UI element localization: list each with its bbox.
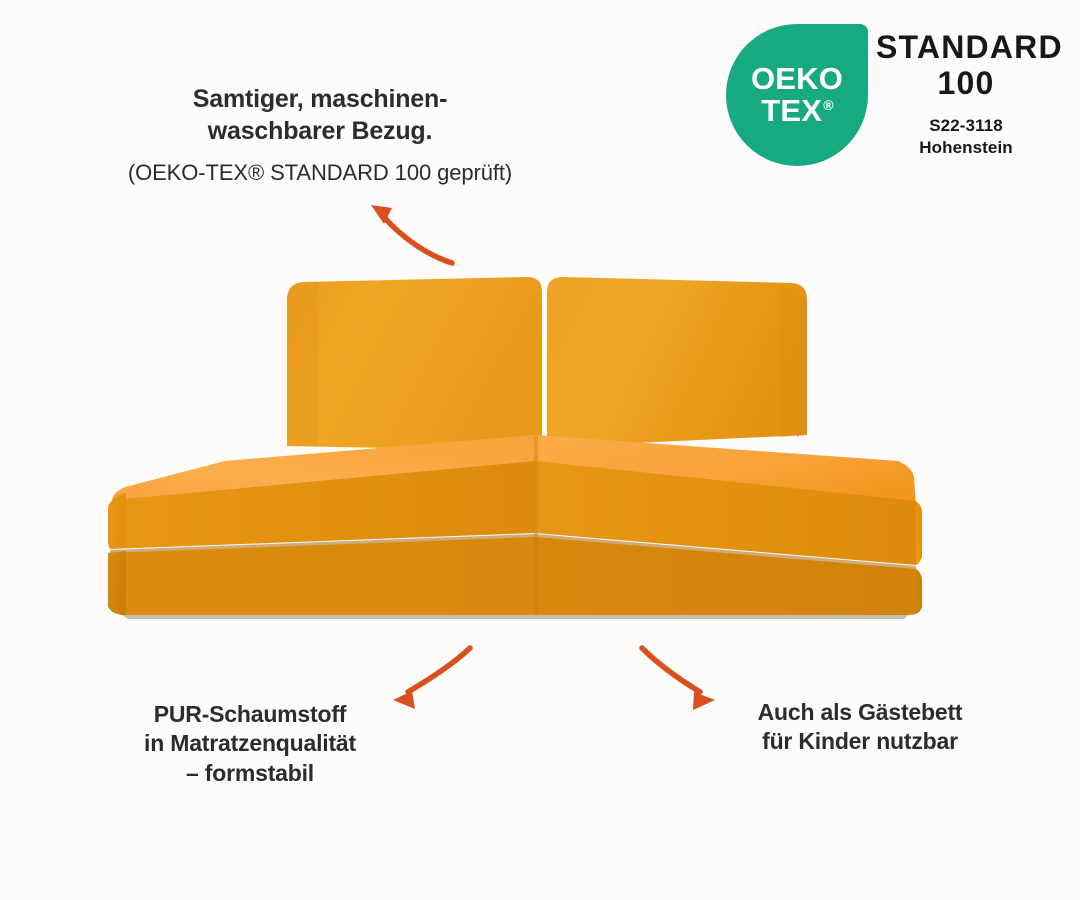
- certification-number-block: S22-3118 Hohenstein: [876, 115, 1056, 160]
- oeko-tex-certification: OEKO TEX ® STANDARD 100 S22-3118 Hohenst…: [726, 24, 1056, 174]
- certification-details: STANDARD 100 S22-3118 Hohenstein: [876, 30, 1056, 160]
- certification-standard-line1: STANDARD: [876, 30, 1056, 66]
- product-illustration: [80, 265, 1020, 635]
- callout-cover-headline-line1: Samtiger, maschinen-: [60, 83, 580, 115]
- certification-standard: STANDARD 100: [876, 30, 1056, 102]
- oeko-tex-logo: OEKO TEX ®: [726, 24, 868, 166]
- callout-guestbed-line2: für Kinder nutzbar: [690, 727, 1030, 756]
- callout-foam-line2: in Matratzenqualität: [50, 729, 450, 758]
- callout-cover-headline: Samtiger, maschinen- waschbarer Bezug.: [60, 83, 580, 147]
- oeko-tex-logo-line1: OEKO: [751, 63, 843, 95]
- oeko-tex-logo-line2-text: TEX: [761, 95, 822, 127]
- registered-trademark-icon: ®: [823, 98, 834, 112]
- couch-svg: [80, 265, 1020, 635]
- callout-foam-headline: PUR-Schaumstoff in Matratzenqualität – f…: [50, 700, 450, 788]
- callout-foam: PUR-Schaumstoff in Matratzenqualität – f…: [50, 700, 450, 788]
- callout-cover-subline: (OEKO-TEX® STANDARD 100 geprüft): [60, 159, 580, 188]
- callout-cover: Samtiger, maschinen- waschbarer Bezug. (…: [60, 83, 580, 188]
- oeko-tex-logo-line2: TEX ®: [761, 95, 832, 127]
- oeko-tex-logo-text: OEKO TEX ®: [726, 24, 868, 166]
- backrest-cushion-left: [287, 277, 542, 451]
- backrest-cushion-right: [547, 277, 807, 447]
- certification-institute: Hohenstein: [876, 137, 1056, 159]
- certification-standard-line2: 100: [876, 66, 1056, 102]
- callout-guestbed-line1: Auch als Gästebett: [690, 698, 1030, 727]
- certificate-number: S22-3118: [876, 115, 1056, 137]
- callout-foam-line1: PUR-Schaumstoff: [50, 700, 450, 729]
- callout-guestbed: Auch als Gästebett für Kinder nutzbar: [690, 698, 1030, 757]
- arrow-to-cover: [371, 205, 452, 263]
- callout-guestbed-headline: Auch als Gästebett für Kinder nutzbar: [690, 698, 1030, 757]
- infographic-canvas: OEKO TEX ® STANDARD 100 S22-3118 Hohenst…: [0, 0, 1080, 900]
- callout-cover-headline-line2: waschbarer Bezug.: [60, 115, 580, 147]
- seat-cushion-left: [108, 435, 535, 554]
- callout-foam-line3: – formstabil: [50, 759, 450, 788]
